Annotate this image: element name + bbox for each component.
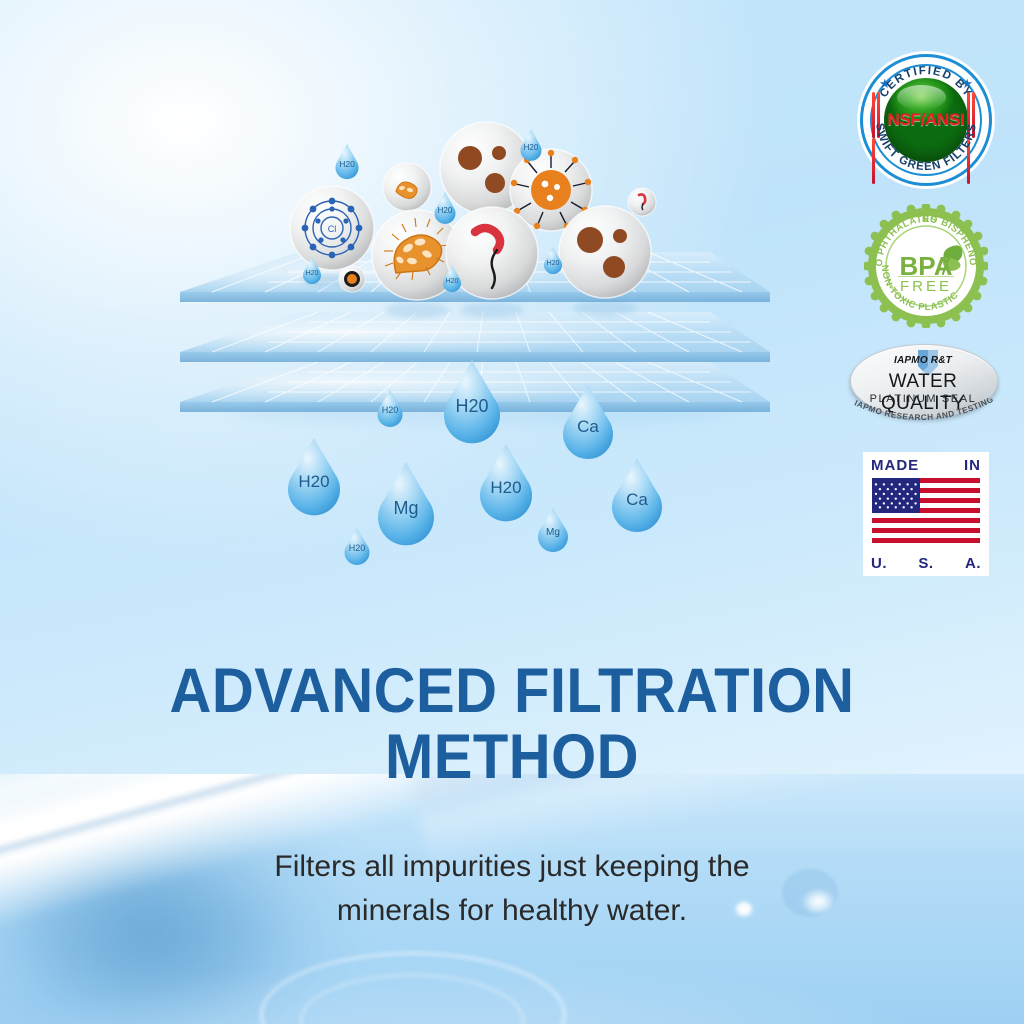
- made-in-caption: MADE IN: [871, 457, 981, 474]
- droplet-mg-small: Mg: [538, 508, 568, 552]
- droplet-h20-large: H20: [480, 444, 532, 521]
- svg-text:SWIFT GREEN FILTERS: SWIFT GREEN FILTERS: [873, 122, 979, 173]
- svg-text:Ca: Ca: [626, 490, 648, 509]
- bubble-bacteria-small: [383, 163, 431, 211]
- page-title: ADVANCED FILTRATION METHOD: [0, 662, 1024, 788]
- nsf-arc-top-label: CERTIFIED BY: [878, 65, 974, 100]
- bubble-micro-particle: [339, 266, 365, 292]
- svg-text:H20: H20: [339, 159, 355, 169]
- svg-text:H20: H20: [306, 270, 319, 277]
- page-subtitle: Filters all impurities just keeping the …: [0, 845, 1024, 932]
- svg-text:H20: H20: [382, 405, 399, 415]
- bpa-free-badge: NO PHTHALATES NO BISPHENOL-A NON-TOXIC P…: [846, 204, 1006, 328]
- svg-text:Mg: Mg: [393, 498, 418, 518]
- usa-part-u: U.: [871, 555, 887, 572]
- usa-part-s: S.: [918, 555, 933, 572]
- headline-line-2: METHOD: [41, 728, 983, 788]
- iapmo-water-quality-platinum-seal-badge: IAPMO R&T WATER QUALITY PLATINUM SEAL IA…: [846, 344, 1006, 436]
- headline-line-1: ADVANCED FILTRATION: [41, 662, 983, 722]
- droplet-mg: Mg: [378, 462, 434, 545]
- svg-text:H20: H20: [298, 472, 329, 491]
- droplet-h20-large: H20: [288, 438, 340, 515]
- made-label: MADE: [871, 457, 919, 474]
- flag-canton: [872, 478, 920, 513]
- svg-text:H20: H20: [438, 206, 453, 215]
- svg-text:Ca: Ca: [577, 417, 599, 436]
- svg-text:H20: H20: [547, 260, 560, 267]
- iapmo-top-label: IAPMO R&T: [850, 355, 996, 366]
- made-in-usa-badge: MADE IN: [846, 452, 1006, 576]
- certification-badges-column: ★ ★ NSF/ANSI CERTIFIED BY SWIFT GREEN FI…: [846, 52, 1006, 592]
- bpa-divider: [898, 276, 954, 277]
- droplet-h20-small: H20: [345, 528, 370, 565]
- svg-text:CERTIFIED BY: CERTIFIED BY: [878, 65, 974, 100]
- filtration-illustration: Cl: [150, 60, 810, 580]
- usa-caption: U. S. A.: [871, 555, 981, 572]
- droplet-h20: H20: [521, 129, 542, 161]
- membrane-layer-middle: [180, 312, 770, 362]
- subtitle-line-1: Filters all impurities just keeping the: [0, 845, 1024, 889]
- subtitle-line-2: minerals for healthy water.: [0, 889, 1024, 933]
- svg-text:Cl: Cl: [328, 224, 337, 234]
- svg-text:H20: H20: [524, 143, 539, 152]
- svg-text:Mg: Mg: [546, 527, 560, 538]
- nsf-arc-bottom-label: SWIFT GREEN FILTERS: [873, 122, 979, 173]
- poster-canvas: Cl: [0, 0, 1024, 1024]
- bubble-tiny-sperm: [628, 188, 656, 216]
- usa-part-a: A.: [965, 555, 981, 572]
- svg-text:H20: H20: [455, 396, 488, 416]
- droplet-ca: Ca: [612, 458, 662, 532]
- in-label: IN: [964, 457, 981, 474]
- nsf-ansi-certification-badge: ★ ★ NSF/ANSI CERTIFIED BY SWIFT GREEN FI…: [846, 52, 1006, 188]
- svg-text:H20: H20: [446, 278, 459, 285]
- iapmo-sub-label: PLATINUM SEAL: [850, 393, 996, 405]
- droplet-h20: H20: [336, 144, 359, 179]
- bpa-sub-label: FREE: [900, 278, 952, 295]
- usa-flag-icon: [872, 478, 980, 543]
- svg-text:H20: H20: [349, 543, 366, 553]
- svg-text:H20: H20: [490, 478, 521, 497]
